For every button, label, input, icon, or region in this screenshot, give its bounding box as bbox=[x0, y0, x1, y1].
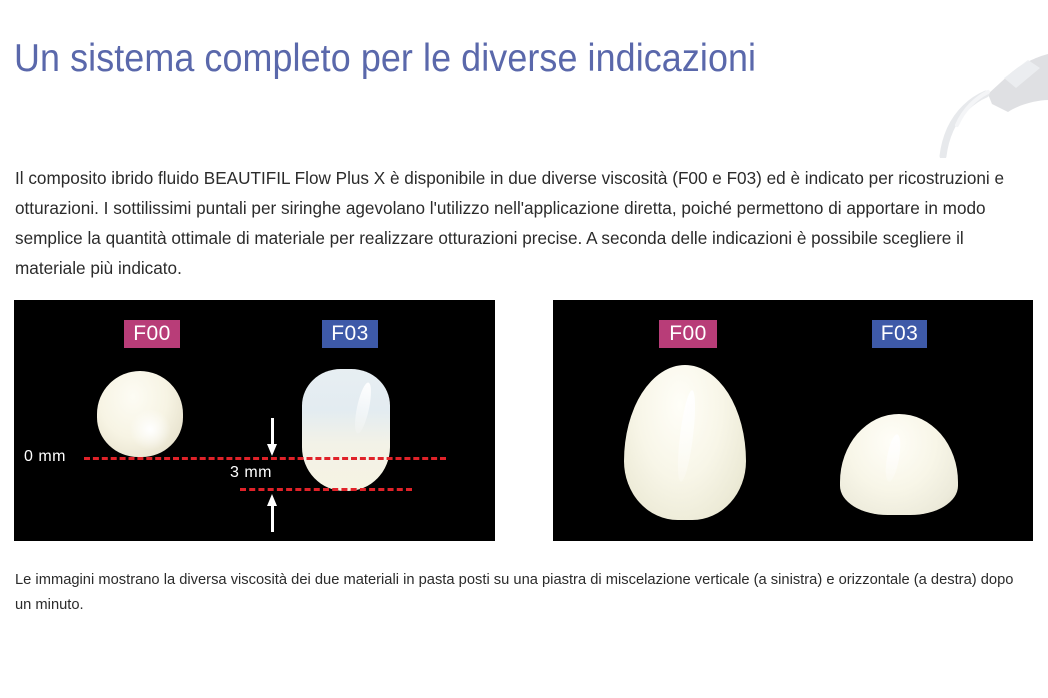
page-root: { "header": { "title": "Un sistema compl… bbox=[0, 0, 1048, 698]
right-panel-label-f00: F00 bbox=[659, 320, 717, 348]
syringe-tip-icon bbox=[900, 38, 1048, 158]
arrow-up-icon bbox=[271, 494, 282, 532]
arrow-down-icon bbox=[271, 418, 282, 456]
figure-caption: Le immagini mostrano la diversa viscosit… bbox=[15, 567, 1017, 617]
paste-blob-f03-horizontal bbox=[840, 414, 958, 515]
three-mm-label: 3 mm bbox=[230, 463, 272, 483]
page-title: Un sistema completo per le diverse indic… bbox=[14, 32, 756, 86]
right-panel-label-f03: F03 bbox=[872, 320, 927, 348]
paste-blob-f00-vertical bbox=[97, 371, 183, 457]
vertical-mixing-plate-photo: F00 F03 bbox=[14, 300, 495, 541]
paste-blob-f00-horizontal bbox=[624, 365, 746, 520]
zero-mm-reference-line bbox=[84, 457, 446, 460]
horizontal-mixing-plate-photo: F00 F03 bbox=[553, 300, 1033, 541]
paste-blob-f03-vertical bbox=[302, 369, 390, 491]
intro-paragraph: Il composito ibrido fluido BEAUTIFIL Flo… bbox=[15, 163, 1010, 283]
left-panel-label-f00: F00 bbox=[124, 320, 180, 348]
left-panel-label-f03: F03 bbox=[322, 320, 378, 348]
zero-mm-label: 0 mm bbox=[24, 447, 66, 467]
three-mm-reference-line bbox=[240, 488, 412, 491]
